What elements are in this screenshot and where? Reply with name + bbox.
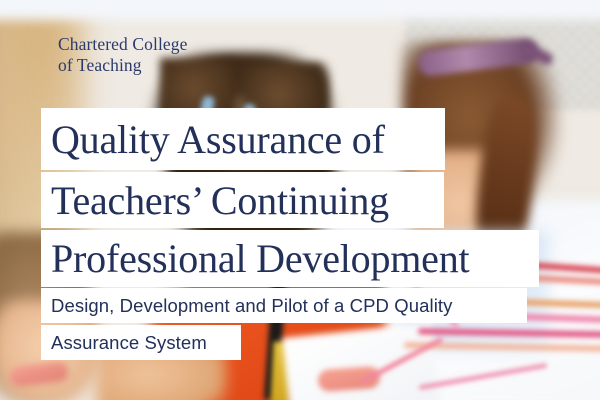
logo-line-1: Chartered College <box>58 34 188 54</box>
subtitle-line-1-text: Design, Development and Pilot of a CPD Q… <box>51 295 453 317</box>
title-line-3-text: Professional Development <box>51 235 469 282</box>
title-line-2-text: Teachers’ Continuing <box>51 177 389 224</box>
title-line-2: Teachers’ Continuing <box>41 172 444 228</box>
title-line-1: Quality Assurance of <box>41 108 445 170</box>
title-line-3: Professional Development <box>41 230 539 287</box>
report-cover: Chartered College of Teaching Quality As… <box>0 0 600 400</box>
logo-line-2: of Teaching <box>58 55 188 76</box>
desk-surface <box>0 0 600 20</box>
subtitle-line-2-text: Assurance System <box>51 332 207 354</box>
organisation-logo: Chartered College of Teaching <box>58 34 188 76</box>
subtitle-line-2: Assurance System <box>41 325 241 360</box>
subtitle-line-1: Design, Development and Pilot of a CPD Q… <box>41 288 527 323</box>
title-line-1-text: Quality Assurance of <box>51 116 385 163</box>
